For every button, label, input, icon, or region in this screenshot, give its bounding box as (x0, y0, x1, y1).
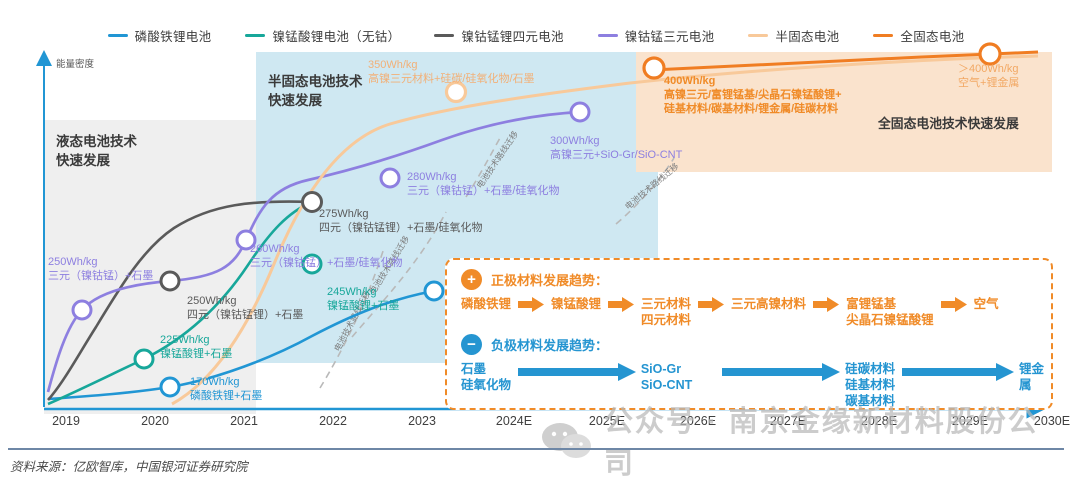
cathode-step-4: 富锂锰基 尖晶石镍锰酸锂 (846, 296, 934, 328)
marker-ncm-250 (73, 301, 91, 319)
plus-icon: + (461, 269, 482, 290)
legend-label-lfp: 磷酸铁锂电池 (135, 26, 212, 45)
legend-label-semi-solid: 半固态电池 (775, 26, 839, 45)
x-tick-2020: 2020 (141, 414, 169, 428)
marker-lfp-180 (425, 282, 443, 300)
legend-item-semi-solid[interactable]: 半固态电池 (748, 26, 839, 45)
legend-swatch-lnmo (245, 34, 265, 37)
x-tick-2026e: 2026E (680, 414, 716, 428)
marker-ncma-250 (161, 272, 179, 290)
cathode-trend-chain: 磷酸铁锂 镍锰酸锂 三元材料 四元材料 三元高镍材料 富锂锰基 尖晶石镍锰酸锂 … (461, 296, 1046, 328)
cathode-trend-header: + 正极材料发展趋势： (461, 269, 608, 290)
legend-label-lnmo: 镍锰酸锂电池（无钴） (272, 26, 400, 45)
legend-label-ncma: 镍钴锰锂四元电池 (461, 26, 563, 45)
point-label-solid-400: 400Wh/kg 高镍三元/富锂锰基/尖晶石镍锰酸锂+ 硅基材料/碳基材料/锂金… (664, 74, 842, 116)
arrow-right-icon (722, 363, 840, 381)
materials-trend-callout: + 正极材料发展趋势： 磷酸铁锂 镍锰酸锂 三元材料 四元材料 三元高镍材料 富… (445, 258, 1053, 410)
anode-step-1: SiO-Gr SiO-CNT (641, 361, 717, 393)
cathode-step-0: 磷酸铁锂 (461, 296, 511, 312)
x-tick-2029e: 2029E (952, 414, 988, 428)
point-label-ncma-275: 275Wh/kg 四元（镍钴锰锂）+石墨/硅氧化物 (319, 207, 482, 235)
marker-ncm-280 (381, 169, 399, 187)
point-label-lnmo-245: 245Wh/kg 镍锰酸锂+石墨 (327, 285, 399, 313)
cathode-step-5: 空气 (974, 296, 999, 312)
anode-step-0: 石墨 硅氧化物 (461, 361, 513, 393)
footer-divider (8, 448, 1064, 450)
legend-item-lfp[interactable]: 磷酸铁锂电池 (108, 26, 212, 45)
legend-swatch-solid (873, 34, 893, 37)
cathode-step-1: 镍锰酸锂 (551, 296, 601, 312)
arrow-right-icon (902, 363, 1014, 381)
legend-item-solid[interactable]: 全固态电池 (873, 26, 964, 45)
anode-step-3: 锂金属 (1019, 361, 1046, 393)
point-label-ncm-260: 260Wh/kg 三元（镍钴锰）+石墨/硅氧化物 (250, 242, 402, 270)
x-tick-2027e: 2027E (770, 414, 806, 428)
arrow-right-icon (518, 297, 544, 312)
svg-text:电池技术路线迁移: 电池技术路线迁移 (623, 160, 681, 211)
x-axis-ticks: 2019 2020 2021 2022 2023 2024E 2025E 202… (22, 414, 1072, 438)
x-tick-2023: 2023 (408, 414, 436, 428)
anode-trend-chain: 石墨 硅氧化物 SiO-Gr SiO-CNT 硅碳材料 硅基材料 碳基材料 锂金… (461, 361, 1046, 409)
legend-item-lnmo[interactable]: 镍锰酸锂电池（无钴） (245, 26, 400, 45)
x-tick-2021: 2021 (230, 414, 258, 428)
point-label-ncm-250: 250Wh/kg 三元（镍钴锰）+石墨 (48, 255, 153, 283)
cathode-trend-title: 正极材料发展趋势： (491, 270, 608, 289)
legend-item-ncm[interactable]: 镍钴锰三元电池 (598, 26, 715, 45)
legend-swatch-lfp (108, 34, 128, 37)
marker-lnmo-225 (135, 350, 153, 368)
point-label-ncma-250: 250Wh/kg 四元（镍钴锰锂）+石墨 (187, 294, 303, 322)
x-tick-2025e: 2025E (589, 414, 625, 428)
x-tick-2030e: 2030E (1034, 414, 1070, 428)
anode-trend-header: − 负极材料发展趋势： (461, 334, 608, 355)
point-label-semi-350: 350Wh/kg 高镍三元材料+硅碳/硅氧化物/石墨 (368, 58, 535, 86)
y-axis-title: 能量密度 (56, 56, 94, 70)
arrow-right-icon (813, 297, 839, 312)
chart-root: 磷酸铁锂电池 镍锰酸锂电池（无钴） 镍钴锰锂四元电池 镍钴锰三元电池 半固态电池… (0, 0, 1072, 484)
x-tick-2028e: 2028E (861, 414, 897, 428)
cathode-step-3: 三元高镍材料 (731, 296, 806, 312)
legend-item-ncma[interactable]: 镍钴锰锂四元电池 (434, 26, 563, 45)
chart-legend: 磷酸铁锂电池 镍锰酸锂电池（无钴） 镍钴锰锂四元电池 镍钴锰三元电池 半固态电池… (0, 24, 1072, 46)
marker-ncm-300 (571, 103, 589, 121)
cathode-step-2: 三元材料 四元材料 (641, 296, 691, 328)
x-tick-2022: 2022 (319, 414, 347, 428)
arrow-right-icon (608, 297, 634, 312)
minus-icon: − (461, 334, 482, 355)
source-note: 资料来源：亿欧智库，中国银河证券研究院 (10, 456, 248, 475)
legend-swatch-ncma (434, 34, 454, 37)
legend-label-solid: 全固态电池 (900, 26, 964, 45)
arrow-right-icon (698, 297, 724, 312)
point-label-ncm-280: 280Wh/kg 三元（镍钴锰）+石墨/硅氧化物 (407, 170, 559, 198)
anode-trend-title: 负极材料发展趋势： (491, 335, 608, 354)
arrow-right-icon (941, 297, 967, 312)
legend-label-ncm: 镍钴锰三元电池 (625, 26, 715, 45)
arrow-right-icon (518, 363, 636, 381)
anode-step-2: 硅碳材料 硅基材料 碳基材料 (845, 361, 897, 409)
marker-solid-400 (644, 58, 664, 78)
x-tick-2019: 2019 (52, 414, 80, 428)
x-tick-2024e: 2024E (496, 414, 532, 428)
legend-swatch-semi-solid (748, 34, 768, 37)
marker-solid-400plus (980, 44, 1000, 64)
point-label-solid-400plus: ＞400Wh/kg 空气+锂金属 (958, 62, 1019, 90)
point-label-lfp-170: 170Wh/kg 磷酸铁锂+石墨 (190, 375, 262, 403)
marker-lfp-170 (161, 378, 179, 396)
point-label-ncm-300: 300Wh/kg 高镍三元+SiO-Gr/SiO-CNT (550, 134, 682, 162)
legend-swatch-ncm (598, 34, 618, 37)
point-label-lnmo-225: 225Wh/kg 镍锰酸锂+石墨 (160, 333, 232, 361)
